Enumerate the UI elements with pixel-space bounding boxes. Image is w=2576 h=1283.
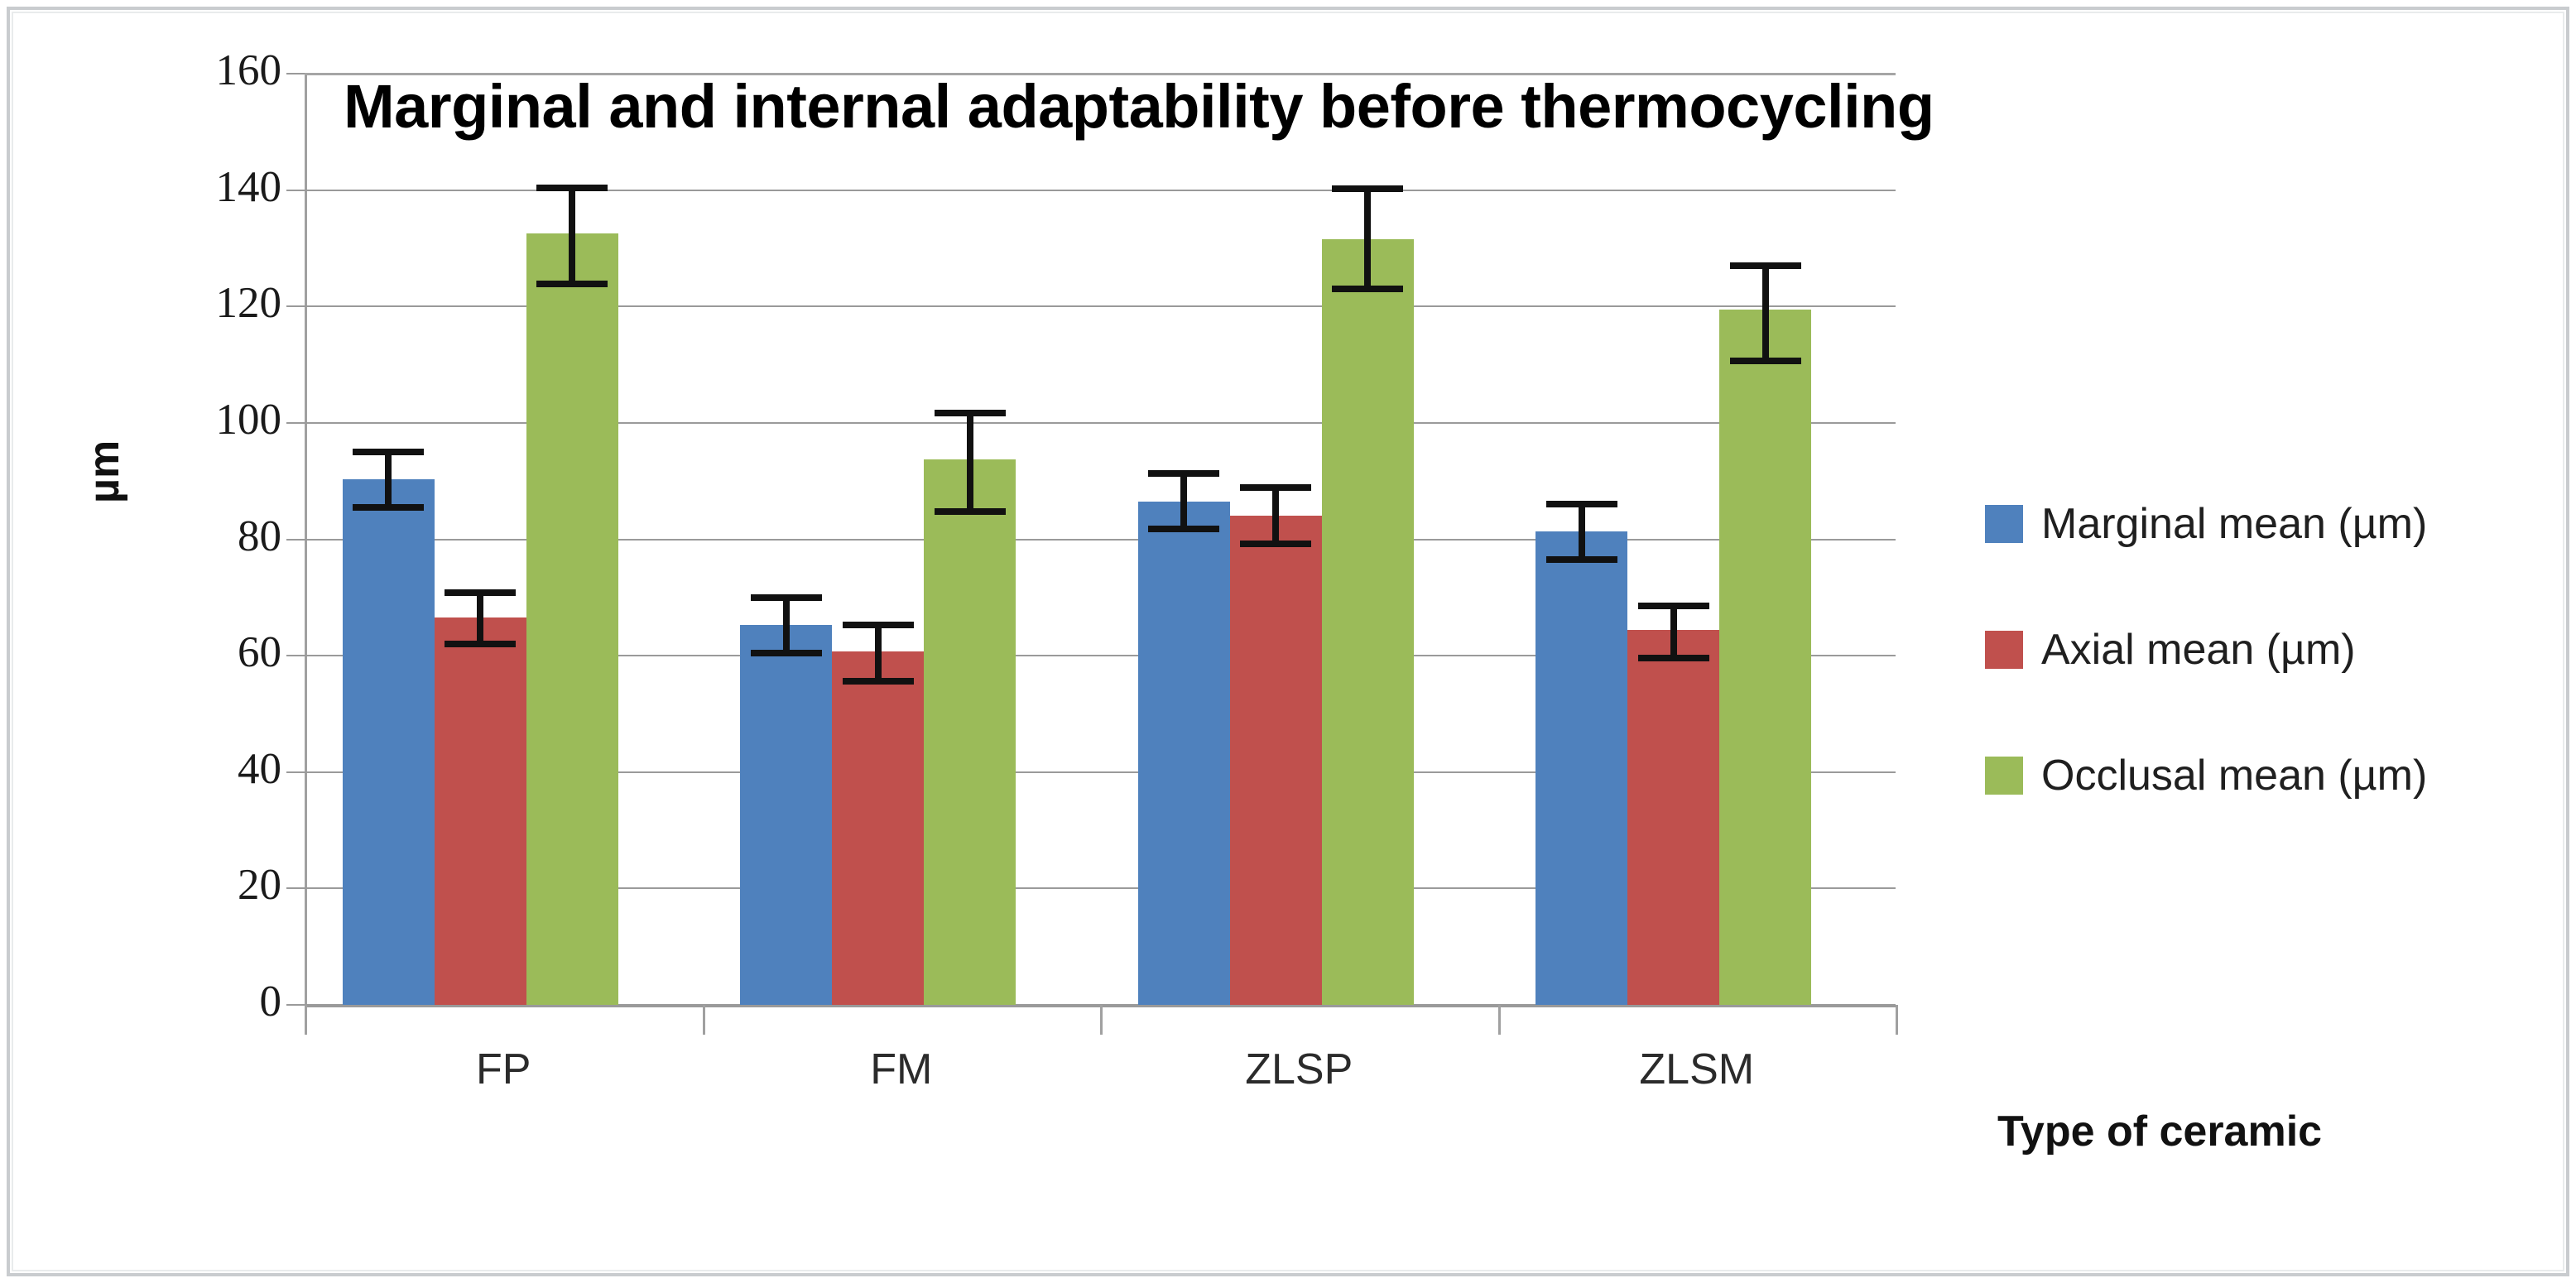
y-axis-tick-label: 160: [91, 49, 281, 93]
error-bar-cap-top: [1240, 484, 1311, 491]
legend-swatch-icon: [1985, 757, 2023, 795]
error-bar-cap-top: [843, 622, 914, 628]
legend-label: Occlusal mean (µm): [2041, 751, 2427, 800]
error-bar-cap-bottom: [536, 281, 608, 287]
bar: [1627, 630, 1719, 1005]
error-bar-cap-top: [445, 589, 516, 596]
x-axis-title: Type of ceramic: [1997, 1107, 2322, 1156]
error-bar-cap-top: [1148, 470, 1219, 477]
error-bar-cap-bottom: [445, 641, 516, 647]
bar: [1138, 502, 1230, 1005]
y-axis-tick-labels: 160140120100806040200: [83, 0, 281, 1283]
bar: [343, 479, 435, 1005]
error-bar: [1638, 603, 1709, 661]
y-axis-tick-mark: [286, 539, 305, 541]
bar: [1719, 310, 1811, 1005]
error-bar: [843, 622, 914, 685]
error-bar-stem: [1180, 470, 1187, 532]
error-bar: [751, 594, 822, 656]
legend-label: Axial mean (µm): [2041, 625, 2356, 675]
x-axis-tick-label-zlsp: ZLSP: [1100, 1045, 1498, 1094]
error-bar-cap-top: [1332, 185, 1403, 192]
bar: [1230, 516, 1322, 1005]
error-bar: [353, 449, 424, 511]
y-axis-tick-mark: [286, 1004, 305, 1006]
x-axis-tick-label-fp: FP: [305, 1045, 703, 1094]
error-bar: [445, 589, 516, 647]
y-axis-tick-label: 40: [91, 747, 281, 791]
error-bar: [1148, 470, 1219, 532]
error-bar-cap-bottom: [353, 504, 424, 511]
error-bar-cap-top: [935, 410, 1006, 416]
legend-item: Axial mean (µm): [1985, 622, 2427, 677]
error-bar-cap-top: [1730, 262, 1801, 269]
y-axis-tick-mark: [286, 422, 305, 424]
legend-item: Marginal mean (µm): [1985, 497, 2427, 551]
y-axis-tick-label: 140: [91, 166, 281, 209]
y-axis-tick-mark: [286, 887, 305, 889]
error-bar-cap-top: [1638, 603, 1709, 609]
error-bar-cap-bottom: [1546, 556, 1617, 563]
error-bar-cap-bottom: [1730, 358, 1801, 364]
bar: [924, 459, 1016, 1005]
legend-swatch-icon: [1985, 631, 2023, 669]
x-axis-tick-label-zlsm: ZLSM: [1498, 1045, 1896, 1094]
error-bar-cap-bottom: [1148, 526, 1219, 532]
error-bar: [935, 410, 1006, 515]
y-axis-tick-label: 80: [91, 515, 281, 559]
chart-page: 160140120100806040200 µm Marginal and in…: [0, 0, 2576, 1283]
error-bar-stem: [1762, 262, 1769, 364]
error-bar: [1240, 484, 1311, 548]
legend-item: Occlusal mean (µm): [1985, 748, 2427, 803]
error-bar-stem: [783, 594, 790, 656]
y-axis-tick-label: 100: [91, 398, 281, 442]
error-bar-cap-bottom: [1240, 541, 1311, 547]
error-bar-stem: [1579, 501, 1585, 563]
x-axis-category-separator: [1498, 1005, 1501, 1035]
error-bar: [536, 185, 608, 287]
y-axis-tick-label: 0: [91, 980, 281, 1024]
y-axis-tick-mark: [286, 305, 305, 307]
plot-area: [305, 74, 1896, 1005]
gridline: [305, 73, 1896, 75]
error-bar-stem: [967, 410, 973, 515]
error-bar-cap-top: [536, 185, 608, 191]
error-bar-cap-top: [1546, 501, 1617, 507]
error-bar-cap-bottom: [1638, 655, 1709, 661]
error-bar-cap-top: [751, 594, 822, 601]
bar: [740, 625, 832, 1005]
bar: [435, 617, 526, 1005]
x-axis-category-separator: [703, 1005, 705, 1035]
x-axis-category-separator: [1896, 1005, 1898, 1035]
error-bar: [1332, 185, 1403, 292]
error-bar: [1546, 501, 1617, 563]
error-bar-stem: [875, 622, 882, 685]
bar: [1322, 239, 1414, 1005]
chart-legend: Marginal mean (µm)Axial mean (µm)Occlusa…: [1985, 497, 2427, 874]
y-axis-title: µm: [79, 440, 129, 503]
error-bar-cap-bottom: [751, 650, 822, 656]
y-axis-tick-label: 120: [91, 281, 281, 325]
error-bar-stem: [477, 589, 483, 647]
error-bar-cap-top: [353, 449, 424, 455]
bar: [526, 233, 618, 1005]
error-bar-cap-bottom: [843, 678, 914, 685]
error-bar-stem: [385, 449, 392, 511]
y-axis-tick-mark: [286, 73, 305, 74]
x-axis-category-separator: [1100, 1005, 1103, 1035]
y-axis-tick-label: 60: [91, 631, 281, 675]
y-axis-tick-mark: [286, 771, 305, 773]
y-axis-tick-mark: [286, 190, 305, 191]
legend-swatch-icon: [1985, 505, 2023, 543]
error-bar-stem: [1272, 484, 1279, 548]
y-axis-tick-label: 20: [91, 863, 281, 907]
y-axis-tick-mark: [286, 655, 305, 656]
error-bar: [1730, 262, 1801, 364]
error-bar-stem: [1670, 603, 1677, 661]
error-bar-cap-bottom: [935, 508, 1006, 515]
x-axis-tick-label-fm: FM: [703, 1045, 1101, 1094]
error-bar-cap-bottom: [1332, 286, 1403, 292]
error-bar-stem: [569, 185, 575, 287]
legend-label: Marginal mean (µm): [2041, 499, 2427, 549]
error-bar-stem: [1364, 185, 1371, 292]
bar: [1536, 531, 1627, 1005]
bar: [832, 651, 924, 1005]
x-axis-category-separator: [305, 1005, 307, 1035]
